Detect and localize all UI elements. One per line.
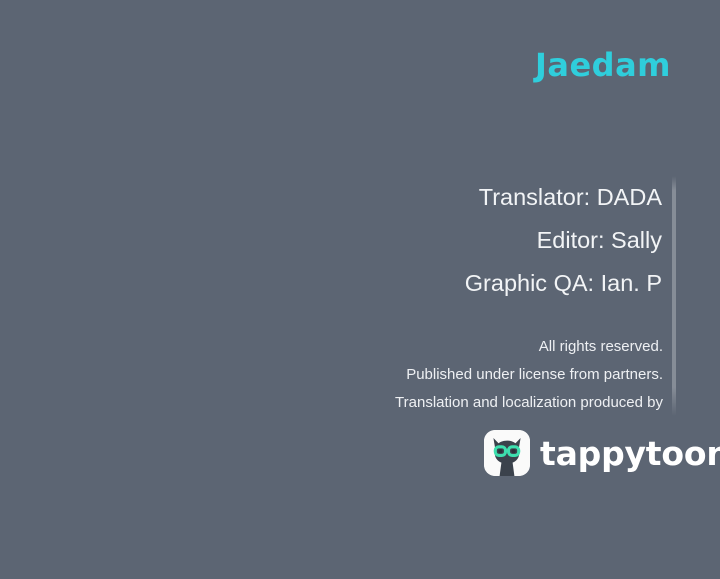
legal-notice-block: All rights reserved. Published under lic… (143, 333, 663, 417)
credit-line-graphic-qa: Graphic QA: Ian. P (232, 262, 662, 305)
comic-credits-page: Jaedam Translator: DADA Editor: Sally Gr… (0, 0, 720, 579)
tappytoon-wordmark: tappytoon (540, 437, 720, 470)
publisher-logo-jaedam: Jaedam (535, 49, 671, 81)
credit-line-editor: Editor: Sally (232, 219, 662, 262)
tappytoon-brand-lockup: tappytoon (484, 430, 720, 476)
credits-block: Translator: DADA Editor: Sally Graphic Q… (232, 176, 662, 305)
vertical-scrollbar[interactable] (672, 176, 676, 416)
legal-line-license: Published under license from partners. (143, 361, 663, 389)
legal-line-rights: All rights reserved. (143, 333, 663, 361)
credit-line-translator: Translator: DADA (232, 176, 662, 219)
legal-line-localization: Translation and localization produced by (143, 389, 663, 417)
cat-with-glasses-icon (484, 430, 530, 476)
